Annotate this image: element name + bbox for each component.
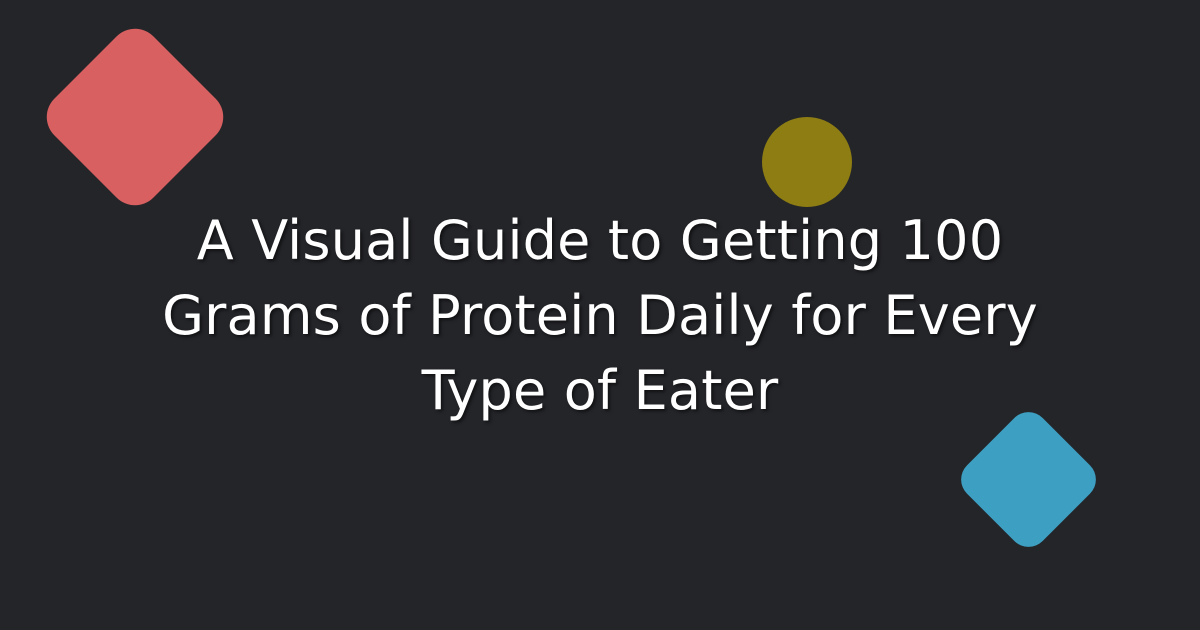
hero-card: A Visual Guide to Getting 100 Grams of P…: [0, 0, 1200, 630]
page-title: A Visual Guide to Getting 100 Grams of P…: [130, 203, 1070, 428]
title-container: A Visual Guide to Getting 100 Grams of P…: [0, 0, 1200, 630]
